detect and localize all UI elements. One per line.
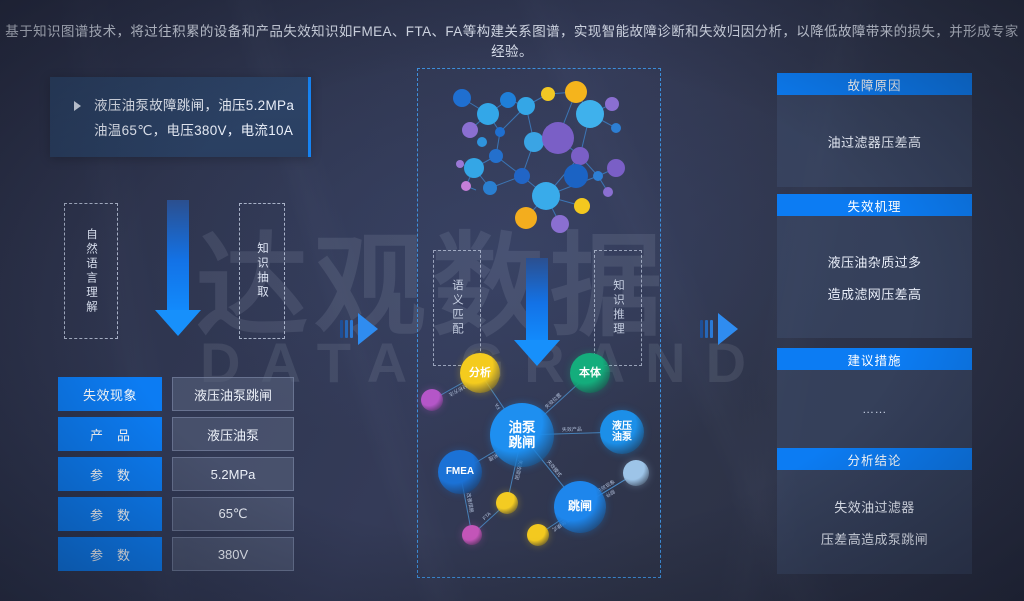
result-panel-suggested-measures: 建议措施 ……	[777, 348, 972, 448]
panel-title: 建议措施	[777, 348, 972, 370]
panel-body: 失效油过滤器 压差高造成泵跳闸	[777, 470, 972, 574]
table-row-value: 5.2MPa	[172, 457, 294, 491]
knowledge-graph-edge-label: 失效产品	[562, 426, 582, 434]
table-row: 失效现象 液压油泵跳闸	[58, 377, 294, 411]
knowledge-graph-node[interactable]: 跳闸	[554, 481, 606, 533]
table-row: 参数 5.2MPa	[58, 457, 294, 491]
knowledge-graph-node-label: 跳闸	[568, 500, 592, 513]
panel-line: 造成滤网压差高	[828, 284, 922, 303]
panel-line: 油过滤器压差高	[828, 132, 922, 151]
knowledge-graph-edge-label: 失效位置	[544, 392, 564, 411]
result-panel-analysis-conclusion: 分析结论 失效油过滤器 压差高造成泵跳闸	[777, 448, 972, 574]
input-text-lines: 液压油泵故障跳闸，油压5.2MPa 油温65℃，电压380V，电流10A	[94, 93, 296, 143]
input-text-card: 液压油泵故障跳闸，油压5.2MPa 油温65℃，电压380V，电流10A	[50, 77, 311, 157]
knowledge-graph-node[interactable]: 分析	[460, 353, 500, 393]
knowledge-graph-node-label: 本体	[579, 367, 601, 379]
down-arrow-icon-left	[155, 200, 201, 336]
panel-title: 故障原因	[777, 73, 972, 95]
table-row-value: 380V	[172, 537, 294, 571]
table-row-key: 产品	[58, 417, 162, 451]
knowledge-graph-node[interactable]	[462, 525, 482, 545]
knowledge-graph-node[interactable]	[496, 492, 518, 514]
slide-canvas: 达观数据 DATA GRAND 基于知识图谱技术，将过往积累的设备和产品失效知识…	[0, 0, 1024, 601]
table-row: 参数 380V	[58, 537, 294, 571]
input-text-line-2: 油温65℃，电压380V，电流10A	[94, 118, 296, 143]
panel-body: 液压油杂质过多 造成滤网压差高	[777, 216, 972, 338]
knowledge-graph-edge-label: FTA	[482, 511, 493, 522]
stage-box-nlu: 自然语言理解	[64, 203, 118, 339]
stage-label-knowledge-extraction: 知识抽取	[254, 242, 270, 300]
result-panel-failure-mechanism: 失效机理 液压油杂质过多 造成滤网压差高	[777, 194, 972, 338]
table-row-key: 失效现象	[58, 377, 162, 411]
panel-line: ……	[862, 402, 887, 416]
table-row: 参数 65℃	[58, 497, 294, 531]
table-row-value: 液压油泵跳闸	[172, 377, 294, 411]
bullet-triangle-icon	[74, 101, 81, 111]
input-text-line-1: 液压油泵故障跳闸，油压5.2MPa	[94, 93, 296, 118]
panel-body: 油过滤器压差高	[777, 95, 972, 187]
table-row-value: 液压油泵	[172, 417, 294, 451]
knowledge-graph-node[interactable]: FMEA	[438, 450, 482, 494]
knowledge-graph-node[interactable]	[623, 460, 649, 486]
knowledge-graph-node[interactable]: 本体	[570, 353, 610, 393]
fault-knowledge-graph: FA失效位置失效产品机理失效模式失效原因分析方法改善措施FTA失效现象失效模式部…	[410, 355, 670, 580]
panel-line: 压差高造成泵跳闸	[821, 529, 928, 548]
knowledge-graph-node[interactable]	[421, 389, 443, 411]
panel-line: 失效油过滤器	[834, 497, 914, 516]
panel-title: 失效机理	[777, 194, 972, 216]
panel-title: 分析结论	[777, 448, 972, 470]
stage-box-knowledge-extraction: 知识抽取	[239, 203, 285, 339]
panel-line: 液压油杂质过多	[828, 252, 922, 271]
page-title: 基于知识图谱技术，将过往积累的设备和产品失效知识如FMEA、FTA、FA等构建关…	[0, 20, 1024, 60]
table-row-key: 参数	[58, 497, 162, 531]
result-panel-fault-cause: 故障原因 油过滤器压差高	[777, 73, 972, 187]
table-row: 产品 液压油泵	[58, 417, 294, 451]
knowledge-graph-node[interactable]: 油泵跳闸	[490, 403, 554, 467]
panel-body: ……	[777, 370, 972, 448]
table-row-value: 65℃	[172, 497, 294, 531]
knowledge-graph-node-label: 分析	[469, 367, 491, 379]
stage-label-nlu: 自然语言理解	[83, 228, 99, 315]
right-arrow-icon-2	[700, 313, 738, 345]
knowledge-graph-node-label: FMEA	[446, 466, 474, 477]
table-row-key: 参数	[58, 537, 162, 571]
knowledge-graph-node-label: 油泵跳闸	[509, 420, 536, 450]
knowledge-graph-edge-label: FA	[494, 401, 503, 410]
table-row-key: 参数	[58, 457, 162, 491]
knowledge-graph-node[interactable]: 液压油泵	[600, 410, 644, 454]
right-arrow-icon-1	[340, 313, 378, 345]
knowledge-graph-node[interactable]	[527, 524, 549, 546]
particle-network-graphic	[430, 72, 658, 262]
knowledge-graph-node-label: 液压油泵	[612, 421, 632, 443]
